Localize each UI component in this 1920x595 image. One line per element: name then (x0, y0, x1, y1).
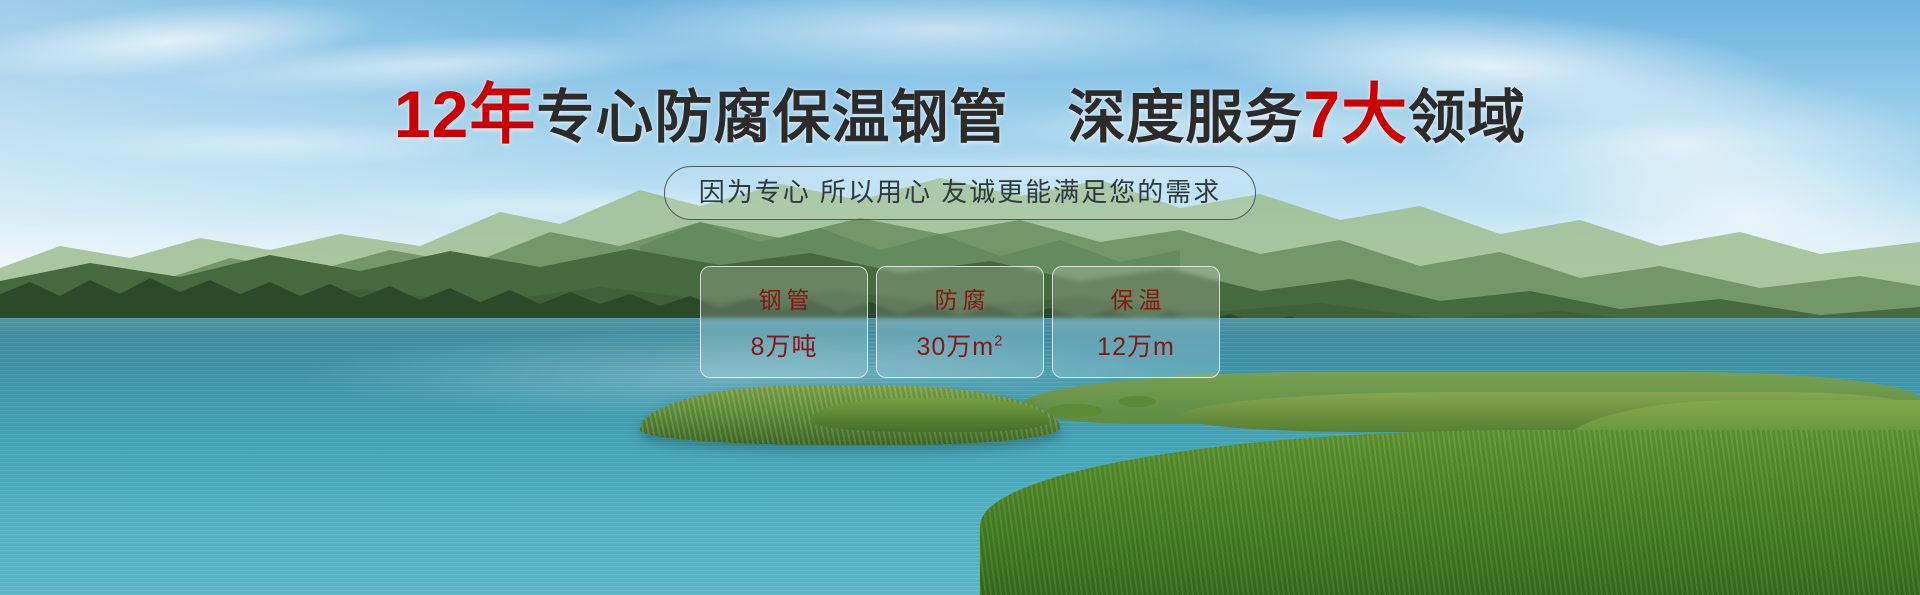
headline-count: 7大 (1303, 77, 1408, 151)
stat-value: 12万m (1097, 327, 1175, 363)
stat-value: 8万吨 (751, 327, 818, 363)
subtitle-container: 因为专心 所以用心 友诚更能满足您的需求 (0, 166, 1920, 220)
stat-card-insulation[interactable]: 保温 12万m (1052, 266, 1220, 378)
stat-value-text: 30万m (917, 333, 995, 361)
stat-cards: 钢管 8万吨 防腐 30万m2 保温 12万m (0, 266, 1920, 378)
islet (1048, 404, 1102, 418)
stat-value: 30万m2 (917, 327, 1004, 363)
stat-label: 防腐 (930, 281, 991, 315)
stat-value-superscript: 2 (994, 333, 1003, 350)
grass-island-secondary (810, 398, 1050, 432)
page-title: 12年专心防腐保温钢管 深度服务7大领域 (0, 83, 1920, 149)
headline-focus: 专心防腐保温钢管 (536, 85, 1008, 150)
stat-card-steel-pipe[interactable]: 钢管 8万吨 (700, 266, 868, 378)
stat-label: 钢管 (754, 281, 815, 315)
stat-value-text: 8万吨 (751, 333, 818, 361)
headline-years: 12年 (394, 77, 536, 151)
headline-service: 深度服务 (1008, 85, 1303, 150)
hero-banner: 12年专心防腐保温钢管 深度服务7大领域 因为专心 所以用心 友诚更能满足您的需… (0, 0, 1920, 595)
headline-fields: 领域 (1408, 85, 1526, 150)
stat-value-text: 12万m (1097, 333, 1175, 361)
islet (1118, 396, 1156, 407)
stat-card-anticorrosion[interactable]: 防腐 30万m2 (876, 266, 1044, 378)
stat-label: 保温 (1106, 281, 1167, 315)
subtitle-pill: 因为专心 所以用心 友诚更能满足您的需求 (664, 166, 1256, 220)
